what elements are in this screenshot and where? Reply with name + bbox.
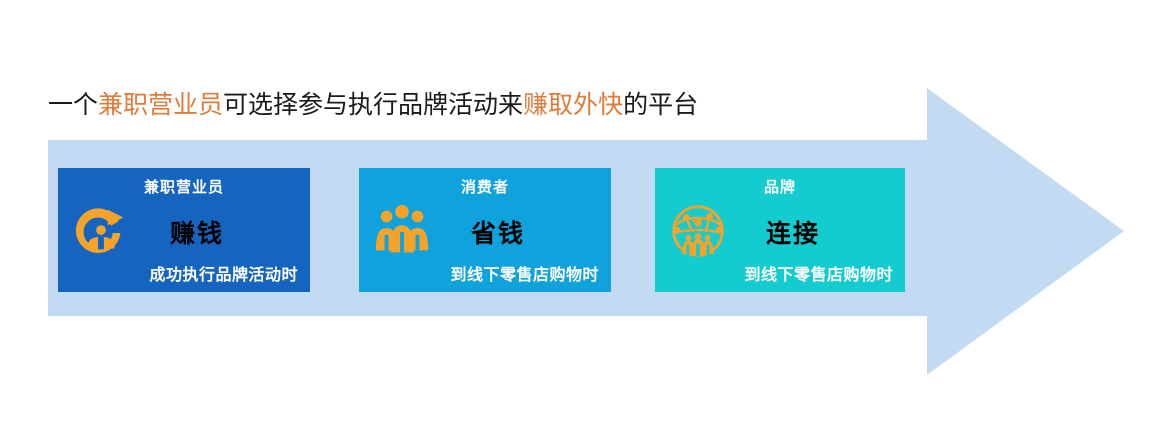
card-footer-label: 到线下零售店购物时 xyxy=(450,261,599,285)
card-consumer[interactable]: 消费者 省钱 到线下零售店购物时 xyxy=(359,168,611,292)
card-main-label: 赚钱 xyxy=(58,214,310,250)
card-part-time-clerk[interactable]: 兼职营业员 赚钱 成功执行品牌活动时 xyxy=(58,168,310,292)
card-footer-label: 成功执行品牌活动时 xyxy=(149,261,298,285)
headline-segment-4: 的平台 xyxy=(623,91,698,119)
card-main-label: 省钱 xyxy=(359,214,611,250)
headline-segment-2: 可选择参与执行品牌活动来 xyxy=(223,91,523,119)
diagram-canvas: 一个兼职营业员可选择参与执行品牌活动来赚取外快的平台 兼职营业员 赚钱 成功执行… xyxy=(0,0,1150,430)
page-title: 一个兼职营业员可选择参与执行品牌活动来赚取外快的平台 xyxy=(48,88,698,122)
card-header-label: 兼职营业员 xyxy=(58,176,310,197)
card-header-label: 品牌 xyxy=(655,176,905,197)
headline-segment-3: 赚取外快 xyxy=(523,91,623,119)
card-footer-label: 到线下零售店购物时 xyxy=(744,261,893,285)
headline-segment-0: 一个 xyxy=(48,91,98,119)
card-header-label: 消费者 xyxy=(359,176,611,197)
card-main-label: 连接 xyxy=(655,214,905,250)
headline-segment-1: 兼职营业员 xyxy=(98,91,223,119)
card-brand[interactable]: 品牌 连接 到线下零售店购物时 xyxy=(655,168,905,292)
